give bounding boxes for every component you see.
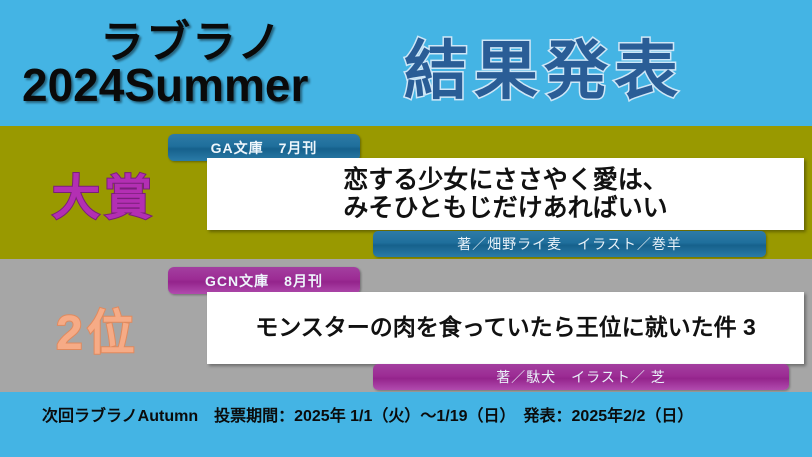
footer-banner: 次回ラブラノAutumn 投票期間：2025年 1/1（火）～1/19（日） 発… <box>0 392 812 457</box>
header-banner: ラブラノ 2024Summer 結果発表 <box>0 0 812 126</box>
imprint-badge-second-place: GCN文庫 8月刊 <box>168 267 360 294</box>
result-announcement-slide: ラブラノ 2024Summer 結果発表 大賞 GA文庫 7月刊 恋する少女にさ… <box>0 0 812 457</box>
next-event-notice: 次回ラブラノAutumn 投票期間：2025年 1/1（火）～1/19（日） 発… <box>42 402 693 426</box>
rank-label-grand-prize: 大賞 <box>52 158 156 228</box>
page-title: 結果発表 <box>404 20 684 112</box>
book-title-grand-prize: 恋する少女にささやく愛は、 みそひともじだけあればいい <box>343 166 668 222</box>
imprint-badge-grand-prize: GA文庫 7月刊 <box>168 134 360 161</box>
rank-label-second-place: 2位 <box>56 293 139 363</box>
book-title-second-place: モンスターの肉を食っていたら王位に就いた件 3 <box>255 315 756 341</box>
result-row-grand-prize: 大賞 GA文庫 7月刊 恋する少女にささやく愛は、 みそひともじだけあればいい … <box>0 126 812 259</box>
credits-bar-second-place: 著／駄犬 イラスト／ 芝 <box>373 364 789 390</box>
brand-title-line2: 2024Summer <box>22 58 308 112</box>
title-card-second-place: モンスターの肉を食っていたら王位に就いた件 3 <box>207 292 804 364</box>
result-row-second-place: 2位 GCN文庫 8月刊 モンスターの肉を食っていたら王位に就いた件 3 著／駄… <box>0 259 812 392</box>
credits-bar-grand-prize: 著／畑野ライ麦 イラスト／巻羊 <box>373 231 766 257</box>
title-card-grand-prize: 恋する少女にささやく愛は、 みそひともじだけあればいい <box>207 158 804 230</box>
